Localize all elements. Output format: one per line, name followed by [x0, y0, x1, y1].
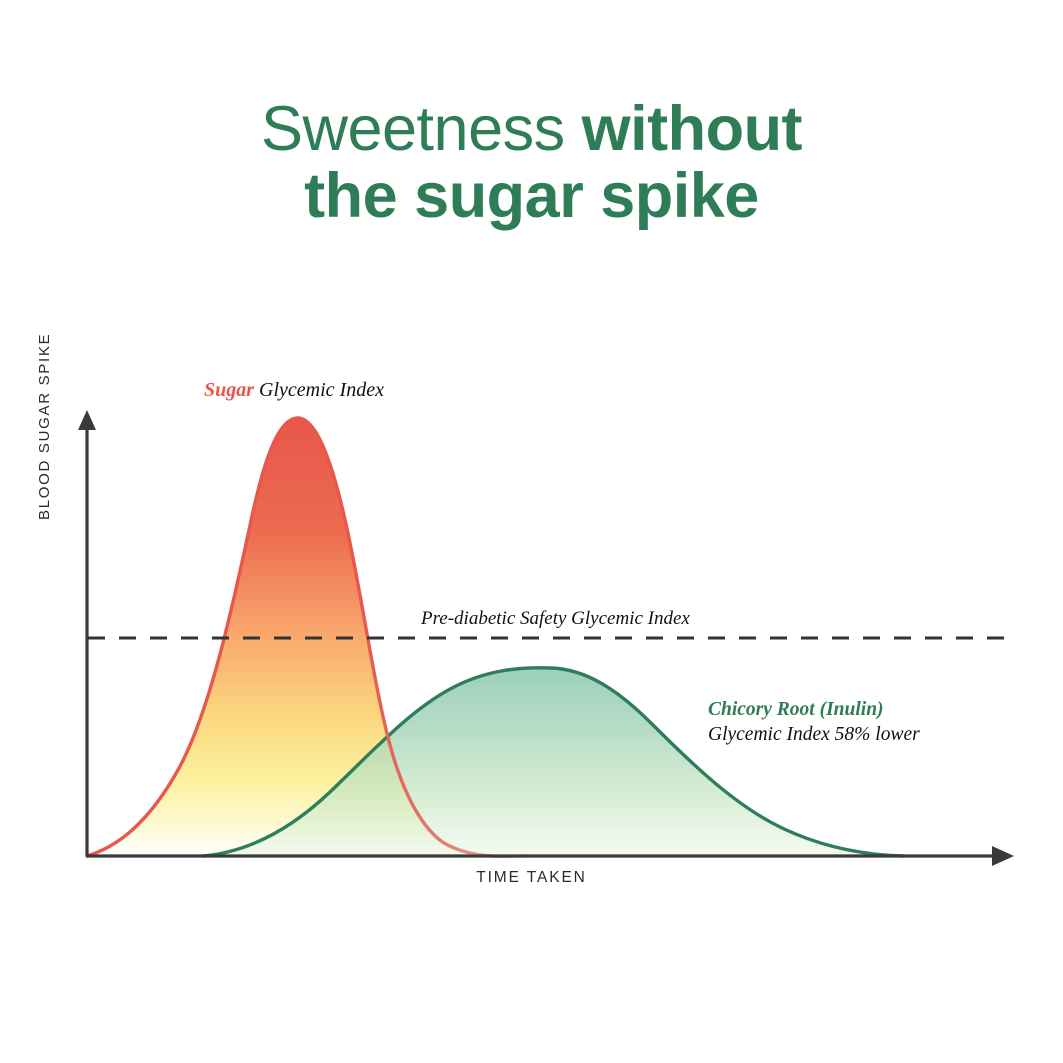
x-axis-arrow-icon [992, 846, 1014, 866]
sugar-series-label: Sugar Glycemic Index [204, 379, 384, 402]
y-axis-label: BLOOD SUGAR SPIKE [36, 250, 53, 520]
inulin-series-label: Chicory Root (Inulin)Glycemic Index 58% … [708, 697, 920, 748]
sugar-series-sublabel: Glycemic Index [259, 379, 384, 401]
y-axis-arrow-icon [78, 410, 96, 430]
inulin-series-name: Chicory Root (Inulin) [708, 699, 884, 720]
threshold-label: Pre-diabetic Safety Glycemic Index [421, 608, 690, 630]
glycemic-index-chart [0, 0, 1063, 1063]
inulin-series-sublabel: Glycemic Index 58% lower [708, 722, 920, 747]
sugar-series-name: Sugar [204, 379, 254, 401]
infographic-page: Sweetness without the sugar spike [0, 0, 1063, 1063]
x-axis-label: TIME TAKEN [0, 869, 1063, 887]
